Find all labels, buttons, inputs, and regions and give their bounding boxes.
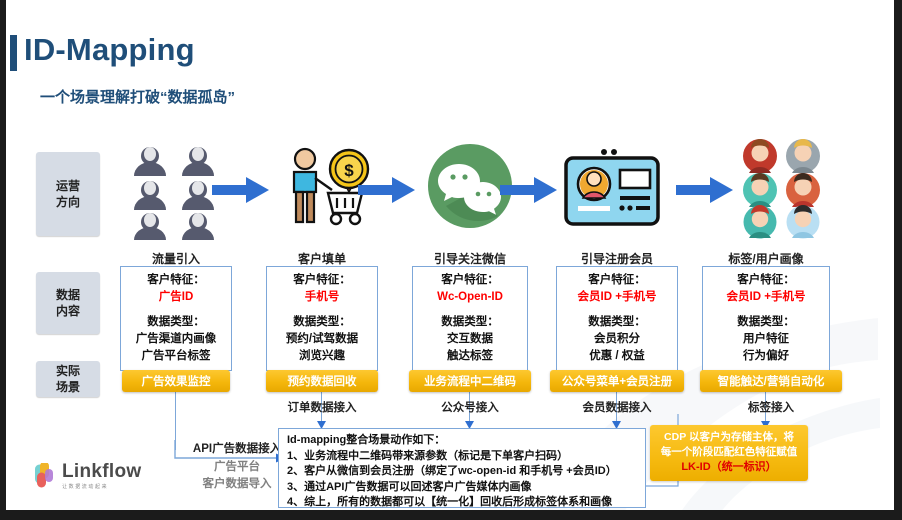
feature-value: 手机号 (269, 289, 375, 306)
row-label-line1: 实际 (56, 363, 80, 379)
type-value: 浏览兴趣 (269, 348, 375, 365)
type-value: 行为偏好 (705, 348, 827, 365)
connector-label-2: 订单数据接入 (266, 399, 378, 415)
type-value: 优惠 / 权益 (559, 348, 675, 365)
brand-logo: Linkflow 让数据流动起来 (32, 462, 141, 490)
feature-value: 广告ID (123, 289, 229, 306)
linkflow-mark-icon (32, 463, 56, 489)
logo-text: Linkflow (62, 462, 141, 481)
cdp-callout: CDP 以客户为存储主体，将 每一个阶段匹配红色特征赋值 LK-ID（统一标识） (650, 425, 808, 481)
description-item: 3、通过API广告数据可以回述客户广告媒体内画像 (287, 480, 639, 496)
column-head-5: 标签/用户画像 (702, 250, 830, 267)
scenario-button-3[interactable]: 业务流程中二维码 (409, 370, 531, 392)
flow-arrow-1-icon (212, 176, 270, 204)
type-value: 广告渠道内画像 (123, 331, 229, 348)
scenario-button-4[interactable]: 公众号菜单+会员注册 (550, 370, 684, 392)
type-value: 用户特征 (705, 331, 827, 348)
connector-label-5: 标签接入 (700, 399, 842, 415)
column-head-4: 引导注册会员 (556, 250, 678, 267)
feature-value: 会员ID +手机号 (705, 289, 827, 306)
row-label-line2: 方向 (56, 194, 80, 210)
description-item: 4、综上，所有的数据都可以【统一化】回收后形成标签体系和画像 (287, 495, 639, 511)
row-label-line1: 运营 (56, 178, 80, 194)
type-value: 交互数据 (415, 331, 525, 348)
row-label-line1: 数据 (56, 287, 80, 303)
feature-label: 客户特征： (123, 272, 229, 289)
feature-label: 客户特征： (269, 272, 375, 289)
data-card-4: 客户特征： 会员ID +手机号 数据类型： 会员积分 优惠 / 权益 (556, 266, 678, 371)
data-card-5: 客户特征： 会员ID +手机号 数据类型： 用户特征 行为偏好 (702, 266, 830, 371)
type-label: 数据类型： (705, 314, 827, 331)
type-value: 预约/试驾数据 (269, 331, 375, 348)
type-value: 会员积分 (559, 331, 675, 348)
type-label: 数据类型： (269, 314, 375, 331)
type-value: 触达标签 (415, 348, 525, 365)
type-label: 数据类型： (559, 314, 675, 331)
scenario-button-5[interactable]: 智能触达/营销自动化 (700, 370, 842, 392)
column-head-2: 客户填单 (266, 250, 378, 267)
data-card-3: 客户特征： Wc-Open-ID 数据类型： 交互数据 触达标签 (412, 266, 528, 371)
cdp-line1: CDP 以客户为存储主体，将 (664, 430, 794, 445)
row-label-line2: 内容 (56, 303, 80, 319)
scenario-button-2[interactable]: 预约数据回收 (266, 370, 378, 392)
feature-label: 客户特征： (559, 272, 675, 289)
column-head-1: 流量引入 (120, 250, 232, 267)
cdp-line3: LK-ID（统一标识） (681, 460, 776, 476)
membership-card-icon (562, 146, 662, 232)
row-label-operation-direction: 运营 方向 (36, 152, 100, 236)
feature-label: 客户特征： (415, 272, 525, 289)
flow-arrow-3-icon (500, 176, 558, 204)
description-box: Id-mapping整合场景动作如下： 1、业务流程中二维码带来源参数（标记是下… (278, 428, 646, 508)
data-card-2: 客户特征： 手机号 数据类型： 预约/试驾数据 浏览兴趣 (266, 266, 378, 371)
row-label-line2: 场景 (56, 379, 80, 395)
data-card-1: 客户特征： 广告ID 数据类型： 广告渠道内画像 广告平台标签 (120, 266, 232, 371)
capture-edge-left (0, 0, 6, 520)
capture-edge-right (894, 0, 902, 520)
row-label-actual-scenario: 实际 场景 (36, 361, 100, 397)
connector-label-4: 会员数据接入 (550, 399, 684, 415)
feature-label: 客户特征： (705, 272, 827, 289)
slide-canvas: ID-Mapping 一个场景理解打破“数据孤岛” 运营 方向 数据 内容 实际… (0, 0, 902, 520)
connector-label-3: 公众号接入 (409, 399, 531, 415)
type-label: 数据类型： (415, 314, 525, 331)
color-avatars-grid-icon (736, 138, 846, 242)
capture-edge-bottom (0, 510, 902, 520)
page-subtitle: 一个场景理解打破“数据孤岛” (40, 86, 235, 107)
flow-arrow-2-icon (358, 176, 416, 204)
feature-value: 会员ID +手机号 (559, 289, 675, 306)
column-head-3: 引导关注微信 (412, 250, 528, 267)
scenario-button-1[interactable]: 广告效果监控 (122, 370, 230, 392)
flow-arrow-4-icon (676, 176, 734, 204)
title-accent-bar (10, 35, 17, 71)
type-value: 广告平台标签 (123, 348, 229, 365)
description-item: 1、业务流程中二维码带来源参数（标记是下单客户扫码） (287, 449, 639, 465)
row-label-data-content: 数据 内容 (36, 272, 100, 334)
logo-tagline: 让数据流动起来 (62, 483, 141, 490)
description-title: Id-mapping整合场景动作如下： (287, 433, 639, 449)
svg-text:$: $ (344, 161, 354, 180)
cdp-line2: 每一个阶段匹配红色特征赋值 (661, 445, 798, 460)
type-label: 数据类型： (123, 314, 229, 331)
description-item: 2、客户从微信到会员注册（绑定了wc-open-id 和手机号 +会员ID） (287, 464, 639, 480)
feature-value: Wc-Open-ID (415, 289, 525, 306)
page-title: ID-Mapping (24, 32, 195, 68)
